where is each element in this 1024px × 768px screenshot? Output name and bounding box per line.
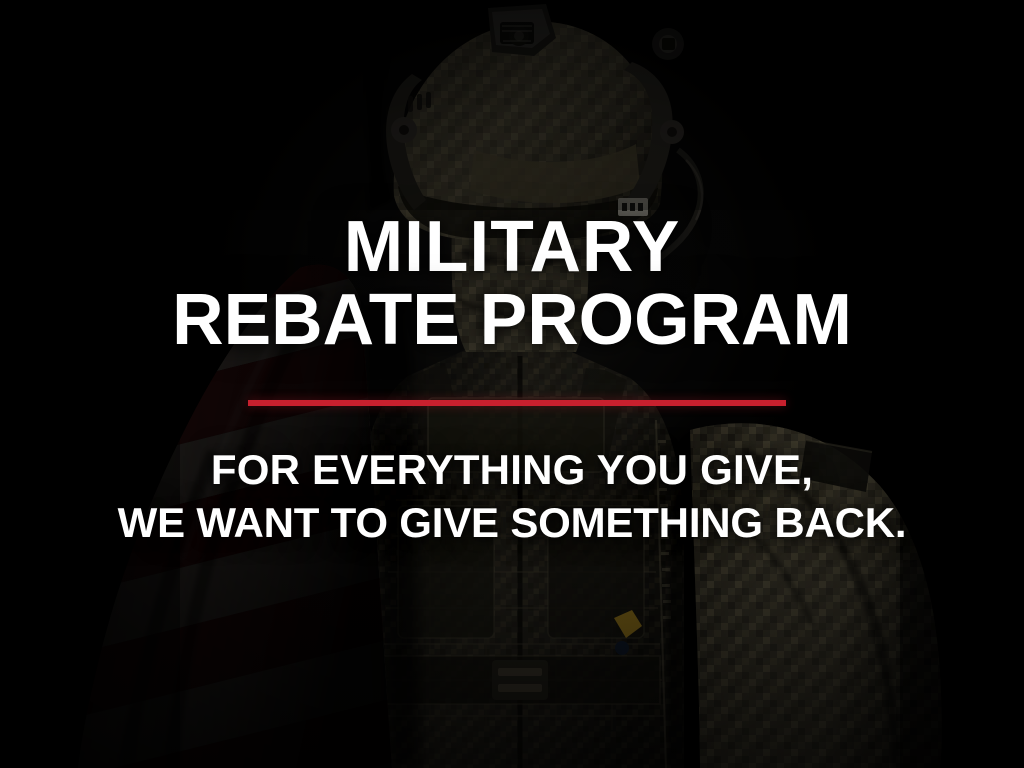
background-photo (0, 0, 1024, 768)
soldier-scene-illustration (0, 0, 1024, 768)
slide-canvas: MILITARY REBATE PROGRAM FOR EVERYTHING Y… (0, 0, 1024, 768)
